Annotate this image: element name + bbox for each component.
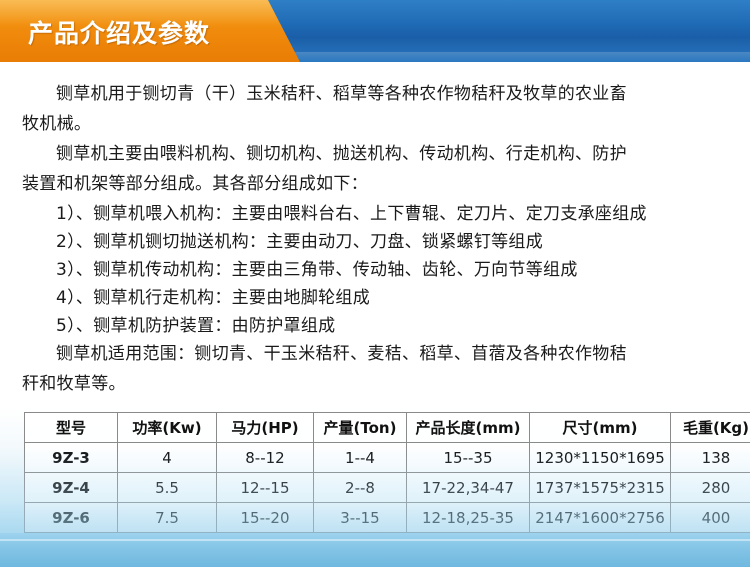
list-item: 3）、铡草机传动机构：主要由三角带、传动轴、齿轮、万向节等组成 bbox=[22, 256, 728, 284]
table-row: 9Z-4 5.5 12--15 2--8 17-22,34-47 1737*15… bbox=[25, 473, 750, 503]
table-row: 9Z-6 7.5 15--20 3--15 12-18,25-35 2147*1… bbox=[25, 503, 750, 533]
list-item: 4）、铡草机行走机构：主要由地脚轮组成 bbox=[22, 284, 728, 312]
column-header: 产量(Ton) bbox=[314, 413, 407, 443]
spec-table-wrapper: 型号 功率(Kw) 马力(HP) 产量(Ton) 产品长度(mm) 尺寸(mm)… bbox=[0, 412, 750, 563]
page-title: 产品介绍及参数 bbox=[28, 14, 210, 50]
table-cell: 7.5 bbox=[118, 503, 217, 533]
table-cell: 1--4 bbox=[314, 443, 407, 473]
page-banner: 产品介绍及参数 bbox=[0, 0, 750, 62]
table-cell: 9Z-9 bbox=[25, 533, 118, 563]
table-cell: 9Z-3 bbox=[25, 443, 118, 473]
table-cell: 17-22,34-47 bbox=[407, 473, 530, 503]
list-item: 5）、铡草机防护装置：由防护罩组成 bbox=[22, 312, 728, 340]
table-cell: 4--20 bbox=[314, 533, 407, 563]
table-cell: 4 bbox=[118, 443, 217, 473]
table-row: 9Z-9 15 ≥25 4--20 12-18,25-35 2620*2140*… bbox=[25, 533, 750, 563]
table-cell: 12-18,25-35 bbox=[407, 503, 530, 533]
column-header: 型号 bbox=[25, 413, 118, 443]
spec-table: 型号 功率(Kw) 马力(HP) 产量(Ton) 产品长度(mm) 尺寸(mm)… bbox=[24, 412, 750, 563]
column-header: 功率(Kw) bbox=[118, 413, 217, 443]
table-cell: 5.5 bbox=[118, 473, 217, 503]
table-cell: 280 bbox=[671, 473, 750, 503]
table-cell: 800 bbox=[671, 533, 750, 563]
paragraph: 装置和机架等部分组成。其各部分组成如下： bbox=[22, 170, 728, 198]
table-cell: 12-18,25-35 bbox=[407, 533, 530, 563]
article-body: 铡草机用于铡切青（干）玉米秸秆、稻草等各种农作物秸秆及牧草的农业畜 牧机械。 铡… bbox=[0, 62, 750, 398]
table-cell: 15--35 bbox=[407, 443, 530, 473]
list-item: 2）、铡草机铡切抛送机构：主要由动刀、刀盘、锁紧螺钉等组成 bbox=[22, 228, 728, 256]
table-cell: ≥25 bbox=[217, 533, 314, 563]
table-row: 9Z-3 4 8--12 1--4 15--35 1230*1150*1695 … bbox=[25, 443, 750, 473]
paragraph: 牧机械。 bbox=[22, 110, 728, 138]
table-cell: 9Z-4 bbox=[25, 473, 118, 503]
table-cell: 1230*1150*1695 bbox=[530, 443, 671, 473]
table-header-row: 型号 功率(Kw) 马力(HP) 产量(Ton) 产品长度(mm) 尺寸(mm)… bbox=[25, 413, 750, 443]
table-cell: 138 bbox=[671, 443, 750, 473]
table-cell: 15 bbox=[118, 533, 217, 563]
page-root: 产品介绍及参数 铡草机用于铡切青（干）玉米秸秆、稻草等各种农作物秸秆及牧草的农业… bbox=[0, 0, 750, 567]
table-cell: 12--15 bbox=[217, 473, 314, 503]
column-header: 毛重(Kg) bbox=[671, 413, 750, 443]
column-header: 尺寸(mm) bbox=[530, 413, 671, 443]
paragraph: 铡草机主要由喂料机构、铡切机构、抛送机构、传动机构、行走机构、防护 bbox=[22, 140, 728, 168]
paragraph: 铡草机适用范围：铡切青、干玉米秸秆、麦秸、稻草、苜蓿及各种农作物秸 bbox=[22, 340, 728, 368]
table-cell: 15--20 bbox=[217, 503, 314, 533]
table-cell: 400 bbox=[671, 503, 750, 533]
paragraph: 铡草机用于铡切青（干）玉米秸秆、稻草等各种农作物秸秆及牧草的农业畜 bbox=[22, 80, 728, 108]
table-cell: 9Z-6 bbox=[25, 503, 118, 533]
paragraph: 秆和牧草等。 bbox=[22, 370, 728, 398]
table-cell: 1737*1575*2315 bbox=[530, 473, 671, 503]
table-cell: 8--12 bbox=[217, 443, 314, 473]
table-cell: 2--8 bbox=[314, 473, 407, 503]
table-cell: 2620*2140*4110 bbox=[530, 533, 671, 563]
column-header: 马力(HP) bbox=[217, 413, 314, 443]
table-cell: 2147*1600*2756 bbox=[530, 503, 671, 533]
column-header: 产品长度(mm) bbox=[407, 413, 530, 443]
table-cell: 3--15 bbox=[314, 503, 407, 533]
list-item: 1）、铡草机喂入机构：主要由喂料台右、上下曹辊、定刀片、定刀支承座组成 bbox=[22, 200, 728, 228]
